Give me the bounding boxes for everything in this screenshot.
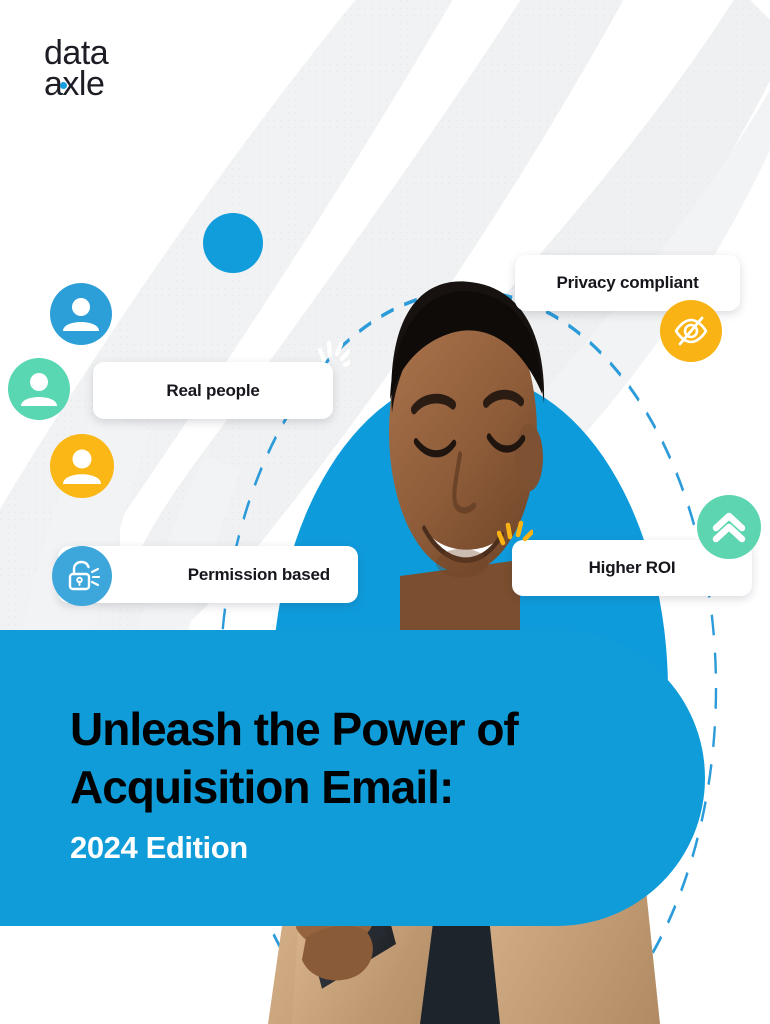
feature-pill-privacy-compliant[interactable]: Privacy compliant (515, 255, 740, 311)
white-sparkle-burst-icon (316, 338, 350, 372)
feature-label-real-people: Real people (166, 381, 259, 401)
double-chevron-up-icon (697, 495, 761, 559)
page-title-line-1: Unleash the Power of (70, 700, 690, 758)
cover-title-block: Unleash the Power of Acquisition Email: … (70, 700, 690, 866)
unlock-icon (52, 546, 112, 606)
page-subtitle-edition: 2024 Edition (70, 830, 690, 866)
page-title-line-2: Acquisition Email: (70, 758, 690, 816)
feature-label-roi: Higher ROI (589, 558, 676, 578)
ebook-cover: data axle (0, 0, 770, 1024)
blue-circle-dot-decoration (203, 213, 263, 273)
person-avatar-icon-blue (50, 283, 112, 345)
hero-illustration: Privacy compliant Real people Permission… (0, 0, 770, 640)
feature-label-permission: Permission based (188, 565, 330, 585)
person-avatar-icon-green (8, 358, 70, 420)
feature-label-privacy: Privacy compliant (556, 273, 698, 293)
yellow-sparkle-burst-icon (497, 516, 533, 552)
feature-pill-real-people[interactable]: Real people (93, 362, 333, 419)
person-avatar-icon-yellow (50, 434, 114, 498)
eye-slash-icon (660, 300, 722, 362)
